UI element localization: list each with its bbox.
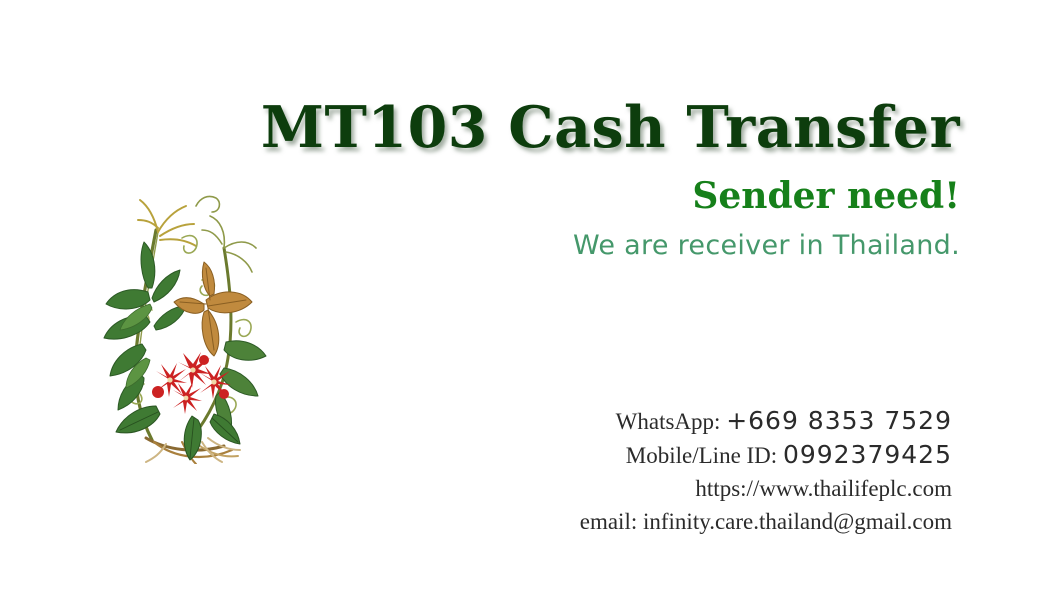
contact-block: WhatsApp: +669 8353 7529 Mobile/Line ID:… — [452, 404, 952, 538]
page-tagline: We are receiver in Thailand. — [260, 229, 960, 263]
whatsapp-label: WhatsApp: — [616, 409, 721, 434]
website-url[interactable]: https://www.thailifeplc.com — [695, 476, 952, 501]
whatsapp-number: +669 8353 7529 — [726, 406, 952, 435]
poster-canvas: MT103 Cash Transfer Sender need! We are … — [0, 0, 1063, 600]
email-label: email: — [580, 509, 637, 534]
email-address[interactable]: infinity.care.thailand@gmail.com — [643, 509, 952, 534]
contact-email[interactable]: email: infinity.care.thailand@gmail.com — [452, 505, 952, 538]
page-title: MT103 Cash Transfer — [260, 96, 960, 160]
heading-block: MT103 Cash Transfer Sender need! We are … — [260, 96, 960, 263]
contact-mobile: Mobile/Line ID: 0992379425 — [452, 438, 952, 472]
floral-vine-illustration — [96, 192, 271, 464]
page-subtitle: Sender need! — [260, 174, 960, 218]
mobile-label: Mobile/Line ID: — [626, 443, 777, 468]
contact-whatsapp: WhatsApp: +669 8353 7529 — [452, 404, 952, 438]
mobile-number: 0992379425 — [783, 440, 952, 469]
contact-website[interactable]: https://www.thailifeplc.com — [452, 472, 952, 505]
